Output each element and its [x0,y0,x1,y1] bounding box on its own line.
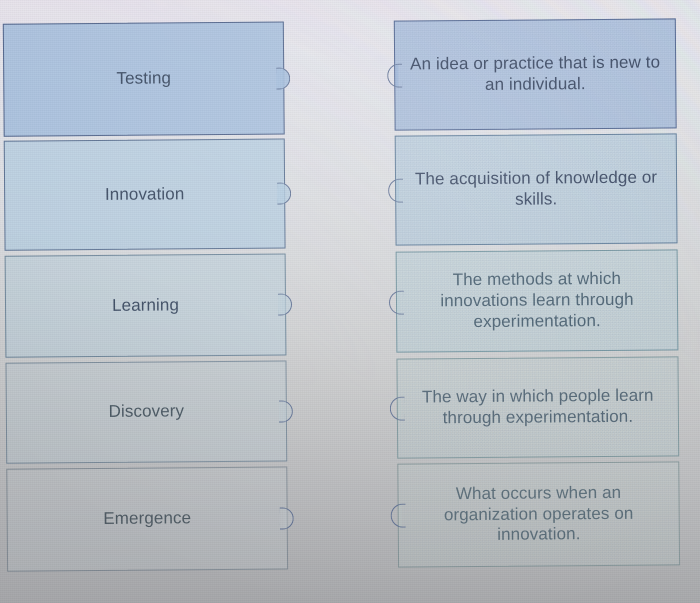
puzzle-notch-seam [395,65,398,87]
term-label: Discovery [95,401,199,423]
puzzle-notch-seam [397,291,400,313]
puzzle-notch-seam [399,505,402,527]
definition-card-5[interactable]: What occurs when an organization operate… [397,461,680,567]
definition-text: The acquisition of knowledge or skills. [396,168,676,212]
term-card-emergence[interactable]: Emergence [6,466,288,571]
definition-card-2[interactable]: The acquisition of knowledge or skills. [395,133,678,245]
term-label: Learning [98,295,193,316]
definition-card-1[interactable]: An idea or practice that is new to an in… [394,18,677,130]
definition-text: The way in which people learn through ex… [398,386,678,430]
term-label: Emergence [89,508,205,530]
matching-board: Testing Innovation Learning Discovery Em… [0,0,700,603]
definition-card-3[interactable]: The methods at which innovations learn t… [396,249,679,352]
term-card-discovery[interactable]: Discovery [5,361,287,464]
puzzle-tab-seam [281,184,284,204]
puzzle-tab-seam [280,68,283,88]
term-card-learning[interactable]: Learning [5,254,287,358]
puzzle-tab-seam [284,508,287,528]
puzzle-notch-seam [396,180,399,202]
definition-card-4[interactable]: The way in which people learn through ex… [396,356,679,458]
term-label: Testing [102,68,185,89]
definition-text: The methods at which innovations learn t… [397,269,677,333]
term-card-innovation[interactable]: Innovation [4,139,286,251]
photographed-screen: Testing Innovation Learning Discovery Em… [0,0,700,603]
term-card-testing[interactable]: Testing [3,22,285,137]
puzzle-tab-seam [283,401,286,421]
puzzle-tab-seam [282,295,285,315]
definition-text: An idea or practice that is new to an in… [395,53,675,97]
puzzle-notch-seam [398,398,401,420]
definition-text: What occurs when an organization operate… [398,482,678,546]
term-label: Innovation [91,184,199,206]
